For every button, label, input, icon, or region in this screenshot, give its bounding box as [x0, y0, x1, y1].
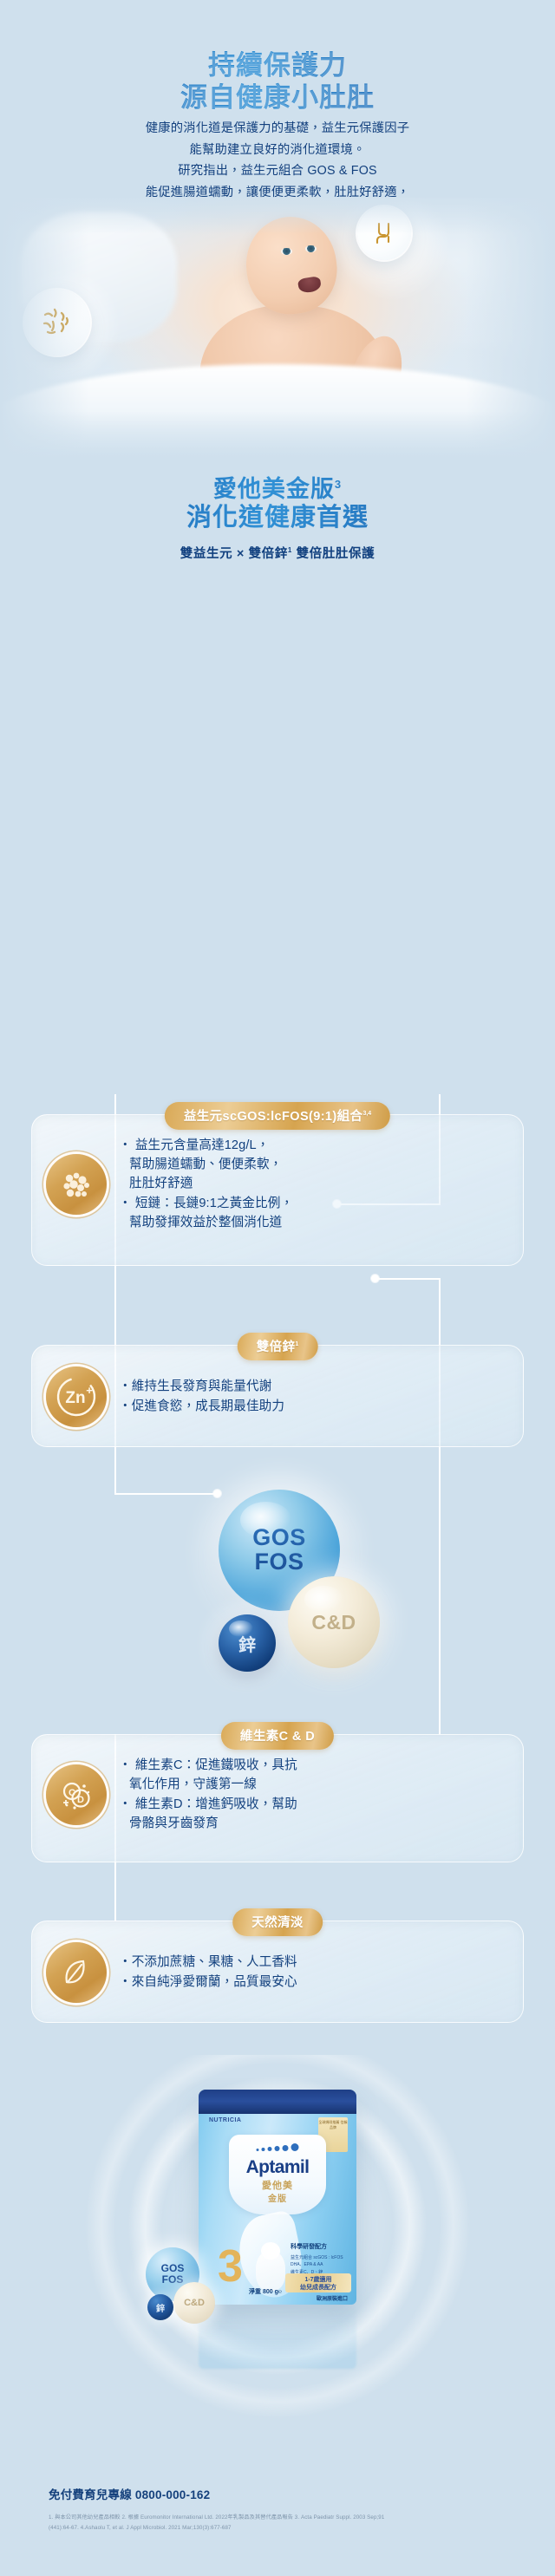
subtitle-part-b: 雙倍鋅	[249, 547, 288, 561]
product-can[interactable]: NUTRICIA 全球媽咪推薦 信賴品牌 Aptamil 愛他美 金版 3 科學…	[199, 2090, 356, 2305]
product-label-shield: Aptamil 愛他美 金版	[229, 2135, 326, 2214]
product-can-lid	[199, 2090, 356, 2114]
connector-right-horizontal-bottom	[376, 1278, 441, 1280]
aptamil-logo-chinese: 愛他美	[262, 2178, 293, 2192]
svg-text:C: C	[69, 1788, 75, 1798]
product-stage-number: 3	[218, 2244, 243, 2289]
list-item: 短鏈：長鏈9:1之黃金比例， 幫助發揮效益於整個消化道	[119, 1195, 293, 1233]
card-zinc-pill: 雙倍鋅1	[238, 1333, 318, 1360]
subtitle-part-c: 雙倍肚肚保護	[297, 547, 375, 561]
footnote-line2: (441):64-67. 4.Ashaolu T, et al. J Appl …	[49, 2523, 520, 2534]
aptamil-dots-icon	[257, 2143, 299, 2151]
mini-gosfos-label: GOS FOS	[161, 2263, 185, 2285]
svg-text:+: +	[86, 1384, 93, 1397]
molecule-diagram: GOS FOS C&D 鋅	[0, 1465, 555, 1725]
hotline-label: 免付費育兒專線	[49, 2488, 132, 2501]
svg-text:Zn: Zn	[65, 1389, 85, 1407]
list-item: 維持生長發育與能量代謝	[119, 1378, 284, 1397]
hero-headline-line1: 持續保護力	[0, 50, 555, 82]
svg-text:D: D	[77, 1795, 84, 1805]
hero-body-line2: 能幫助建立良好的消化道環境。	[0, 140, 555, 161]
list-item: 促進食慾，成長期最佳助力	[119, 1398, 284, 1417]
list-item: 維生素C：促進鐵吸收，具抗 氧化作用，守護第一線	[119, 1757, 297, 1795]
vitamin-cd-coin-icon: C D	[46, 1764, 107, 1825]
bear-mascot-icon	[256, 2251, 285, 2291]
product-age-line2: 幼兒成長配方	[285, 2284, 351, 2292]
hotline-number[interactable]: 0800-000-162	[135, 2488, 210, 2501]
sphere-c-and-d: C&D	[288, 1576, 380, 1668]
card-natural-bullets: 不添加蔗糖、果糖、人工香料 來自純淨愛爾蘭，品質最安心	[119, 1953, 297, 1993]
card-prebiotic-pill-superscript: 3,4	[362, 1111, 371, 1117]
sphere-zinc-label: 鋅	[238, 1631, 256, 1656]
bullet-text: 益生元含量高達12g/L，	[135, 1138, 270, 1152]
card-zinc-pill-label: 雙倍鋅	[257, 1340, 296, 1354]
card-zinc-pill-superscript: 1	[295, 1341, 298, 1347]
leaf-icon	[46, 1942, 107, 2003]
subtitle-part-a: 雙益生元	[180, 547, 232, 561]
zinc-coin-icon: Zn +	[46, 1366, 107, 1427]
hero-headline: 持續保護力 源自健康小肚肚	[0, 50, 555, 114]
product-formula-line: DHA、EPA & AA	[291, 2261, 349, 2269]
bullet-text: 幫助發揮效益於整個消化道	[129, 1216, 282, 1229]
nutricia-brandmark: NUTRICIA	[209, 2117, 241, 2123]
product-net-weight: 淨重 800 g℮	[249, 2287, 282, 2296]
sphere-zinc: 鋅	[219, 1614, 276, 1672]
page-root: 持續保護力 源自健康小肚肚 健康的消化道是保護力的基礎，益生元保護因子 能幫助建…	[0, 0, 555, 2576]
hero-headline-line2: 源自健康小肚肚	[0, 82, 555, 114]
section2-headline-line1: 愛他美金版3	[0, 475, 555, 503]
card-zinc-bullets: 維持生長發育與能量代謝 促進食慾，成長期最佳助力	[119, 1377, 284, 1418]
mini-sphere-zinc: 鋅	[147, 2294, 173, 2320]
bullet-text: 短鏈：長鏈9:1之黃金比例，	[135, 1197, 293, 1210]
card-prebiotic-bullets: 益生元含量高達12g/L， 幫助腸道蠕動、便便柔軟， 肚肚好舒適 短鏈：長鏈9:…	[119, 1136, 293, 1233]
aptamil-logo: Aptamil	[246, 2157, 310, 2178]
bullet-text: 幫助腸道蠕動、便便柔軟，	[129, 1158, 282, 1171]
card-prebiotic-pill: 益生元scGOS:lcFOS(9:1)組合3,4	[165, 1102, 390, 1130]
hero-body-line3: 研究指出，益生元組合 GOS & FOS	[0, 160, 555, 182]
sphere-fos-label: FOS	[252, 1550, 306, 1575]
bullet-text: 氧化作用，守護第一線	[129, 1777, 257, 1791]
card-prebiotic-pill-label: 益生元scGOS:lcFOS(9:1)組合	[184, 1110, 363, 1124]
prebiotic-granules-icon	[46, 1154, 107, 1215]
sphere-gos-label: GOS	[252, 1526, 306, 1550]
bullet-text: 肚肚好舒適	[129, 1177, 193, 1190]
section2-subtitle: 雙益生元 × 雙倍鋅1 雙倍肚肚保護	[0, 544, 555, 562]
product-shot: NUTRICIA 全球媽咪推薦 信賴品牌 Aptamil 愛他美 金版 3 科學…	[0, 2055, 555, 2462]
product-age-band: 1-7歲適用 幼兒成長配方	[285, 2273, 351, 2292]
sphere-cd-label: C&D	[311, 1611, 356, 1634]
list-item: 不添加蔗糖、果糖、人工香料	[119, 1953, 297, 1973]
bullet-text: 維生素D：增進鈣吸收，幫助	[135, 1797, 297, 1811]
card-vitamin-cd-bullets: 維生素C：促進鐵吸收，具抗 氧化作用，守護第一線 維生素D：增進鈣吸收，幫助 骨…	[119, 1756, 297, 1835]
card-prebiotic[interactable]: 益生元scGOS:lcFOS(9:1)組合3,4 益生元含量高達12g/L，	[31, 1114, 524, 1266]
product-reflection	[199, 2305, 356, 2369]
connector-dot-cd	[371, 1275, 379, 1282]
hero-body-line1: 健康的消化道是保護力的基礎，益生元保護因子	[0, 118, 555, 140]
card-zinc[interactable]: 雙倍鋅1 Zn + 維持生長發育與能量代謝 促進食慾，成長期最佳助力	[31, 1345, 524, 1447]
card-natural[interactable]: 天然清淡 不添加蔗糖、果糖、人工香料 來自純淨愛爾蘭，品質最安心	[31, 1921, 524, 2023]
card-vitamin-cd-pill-label: 維生素C & D	[240, 1730, 315, 1744]
list-item: 來自純淨愛爾蘭，品質最安心	[119, 1973, 297, 1992]
bullet-text: 維生素C：促進鐵吸收，具抗	[135, 1758, 297, 1772]
mini-sphere-cd: C&D	[173, 2282, 215, 2324]
subtitle-part-b-superscript: 1	[288, 546, 292, 554]
section2-headline-line1-text: 愛他美金版	[213, 476, 335, 502]
product-formula-line: 益生元組合 scGOS : lcFOS	[291, 2254, 349, 2262]
card-vitamin-cd[interactable]: 維生素C & D C D	[31, 1734, 524, 1862]
section2-headline: 愛他美金版3 消化道健康首選	[0, 475, 555, 533]
hotline: 免付費育兒專線 0800-000-162	[49, 2485, 520, 2502]
footer: 免付費育兒專線 0800-000-162 1. 與本公司其他幼兒產品相較 2. …	[49, 2485, 520, 2534]
list-item: 益生元含量高達12g/L， 幫助腸道蠕動、便便柔軟， 肚肚好舒適	[119, 1137, 293, 1194]
product-import-text: 歐洲原裝進口	[317, 2294, 348, 2302]
section2-headline-superscript: 3	[335, 478, 342, 491]
card-natural-pill-label: 天然清淡	[251, 1916, 304, 1930]
footnotes: 1. 與本公司其他幼兒產品相較 2. 根據 Euromonitor Intern…	[49, 2513, 520, 2534]
card-natural-pill: 天然清淡	[232, 1908, 323, 1936]
footnote-line1: 1. 與本公司其他幼兒產品相較 2. 根據 Euromonitor Intern…	[49, 2513, 520, 2523]
product-age-line1: 1-7歲適用	[285, 2276, 351, 2284]
bullet-text: 骨骼與牙齒發育	[129, 1816, 219, 1830]
aptamil-logo-chinese-gold: 金版	[268, 2191, 287, 2204]
section2-headline-line2: 消化道健康首選	[0, 503, 555, 533]
hero-photo	[0, 198, 555, 458]
hero-photo-vignette	[0, 198, 555, 458]
product-formula-heading: 科學研發配方	[291, 2242, 349, 2253]
subtitle-multiply-sign: ×	[237, 547, 245, 561]
card-vitamin-cd-pill: 維生素C & D	[221, 1722, 334, 1750]
list-item: 維生素D：增進鈣吸收，幫助 骨骼與牙齒發育	[119, 1796, 297, 1834]
sphere-gos-fos-label: GOS FOS	[252, 1526, 306, 1574]
